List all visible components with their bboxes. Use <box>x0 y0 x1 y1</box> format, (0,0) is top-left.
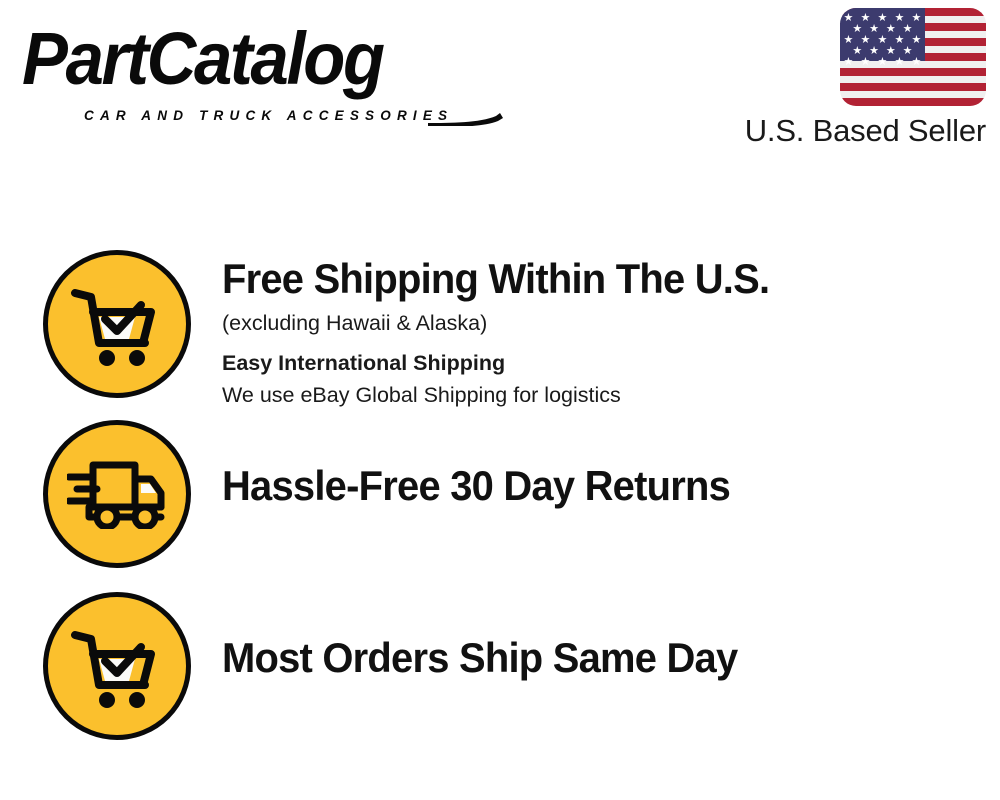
feature-title: Hassle-Free 30 Day Returns <box>222 462 925 510</box>
feature-title: Most Orders Ship Same Day <box>222 634 925 682</box>
us-flag-badge: ★★★★★ ★★★★ ★★★★★ ★★★★ ★★★★★ <box>840 8 986 106</box>
us-flag-icon: ★★★★★ ★★★★ ★★★★★ ★★★★ ★★★★★ <box>840 8 986 106</box>
delivery-truck-icon <box>43 420 191 568</box>
us-based-seller-label: U.S. Based Seller <box>0 113 986 149</box>
feature-text-block: Free Shipping Within The U.S. (excluding… <box>222 255 962 411</box>
feature-subtitle-exclusions: (excluding Hawaii & Alaska) <box>222 307 962 339</box>
feature-title: Free Shipping Within The U.S. <box>222 255 925 303</box>
feature-subtitle-logistics: We use eBay Global Shipping for logistic… <box>222 379 962 411</box>
shopping-cart-check-icon <box>43 250 191 398</box>
flag-canton: ★★★★★ ★★★★ ★★★★★ ★★★★ ★★★★★ <box>840 8 925 61</box>
feature-text-block: Most Orders Ship Same Day <box>222 634 962 682</box>
brand-wordmark: PartCatalog <box>22 20 383 98</box>
page-header: PartCatalog CAR AND TRUCK ACCESSORIES <box>0 0 1000 170</box>
feature-text-block: Hassle-Free 30 Day Returns <box>222 462 962 510</box>
feature-subtitle-international: Easy International Shipping <box>222 347 962 379</box>
brand-logo[interactable]: PartCatalog CAR AND TRUCK ACCESSORIES <box>22 20 492 120</box>
shopping-cart-check-icon <box>43 592 191 740</box>
